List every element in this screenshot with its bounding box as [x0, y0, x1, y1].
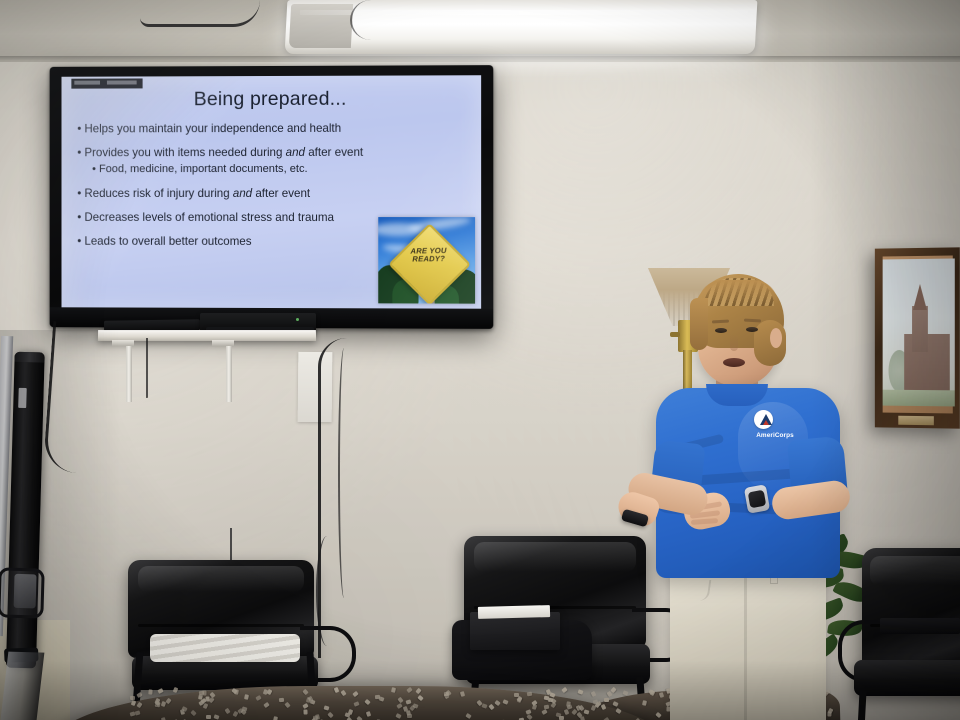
- wall-mounted-tv[interactable]: Being prepared... • Helps you maintain y…: [50, 65, 494, 329]
- shelf-bracket-right-top: [212, 340, 234, 346]
- bullet-text: after event: [252, 186, 310, 199]
- nose: [730, 334, 738, 351]
- ceiling-cable: [140, 0, 260, 27]
- bullet-text: after event: [305, 146, 363, 159]
- slide-bullet: • Reduces risk of injury during and afte…: [77, 186, 467, 200]
- bullet-text-emphasis: and: [233, 187, 252, 200]
- wall-shadow-right: [810, 0, 960, 720]
- slide-bullet: • Food, medicine, important documents, e…: [77, 163, 467, 177]
- bullet-text: Provides you with items needed during: [84, 146, 285, 159]
- presentation-room-photo: Being prepared... • Helps you maintain y…: [0, 0, 960, 720]
- white-cloth-on-chair: [150, 634, 300, 662]
- slide-bullet: • Provides you with items needed during …: [77, 146, 467, 161]
- sign-text: ARE YOU READY?: [402, 247, 455, 264]
- papers-in-box: [478, 605, 550, 619]
- americorps-wordmark: AmeriCorps: [748, 432, 802, 439]
- americorps-a-accent-icon: [763, 420, 769, 425]
- osd-text-2: [107, 80, 137, 84]
- bullet-text-emphasis: and: [286, 146, 305, 159]
- sign-text-line2: READY?: [402, 255, 455, 264]
- tv-input-osd-label: [71, 78, 142, 88]
- eye: [746, 327, 758, 332]
- floor-shadow: [0, 660, 960, 720]
- slide-image-are-you-ready: ARE YOU READY?: [378, 217, 475, 304]
- shelf-bracket-left: [126, 340, 132, 402]
- eye: [715, 328, 727, 333]
- ear: [770, 328, 782, 348]
- osd-text-1: [74, 81, 100, 85]
- bullet-text: Decreases levels of emotional stress and…: [84, 211, 334, 224]
- chair-highlight: [138, 566, 304, 592]
- mouth: [723, 358, 745, 367]
- slide-title: Being prepared...: [71, 87, 471, 111]
- bullet-text: Leads to overall better outcomes: [84, 235, 251, 248]
- hairline: [698, 280, 778, 304]
- device-led-indicator: [296, 318, 299, 321]
- cable: [350, 0, 392, 40]
- bullet-text: Helps you maintain your independence and…: [84, 122, 341, 136]
- tv-screen: Being prepared... • Helps you maintain y…: [61, 75, 481, 308]
- shelf-bracket-right: [226, 340, 232, 402]
- hair-side: [690, 298, 708, 350]
- slide-bullet: • Helps you maintain your independence a…: [77, 122, 467, 137]
- chair-highlight: [474, 542, 636, 572]
- bullet-text: Food, medicine, important documents, etc…: [99, 163, 308, 175]
- powerpoint-slide: Being prepared... • Helps you maintain y…: [61, 75, 481, 308]
- bullet-text: Reduces risk of injury during: [84, 187, 232, 200]
- smartwatch-face: [748, 490, 767, 509]
- cable: [146, 338, 164, 398]
- chair-seam: [138, 624, 304, 627]
- bullet-marker: •: [92, 163, 99, 175]
